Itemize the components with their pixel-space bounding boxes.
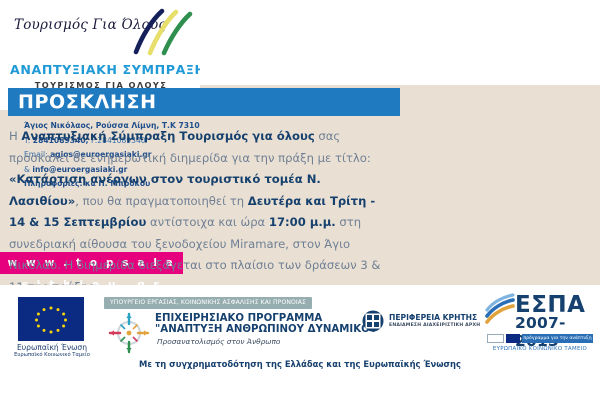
ministry-banner: ΥΠΟΥΡΓΕΙΟ ΕΡΓΑΣΙΑΣ, ΚΟΙΝΩΝΙΚΗΣ ΑΣΦΑΛΙΣΗΣ… <box>104 297 312 309</box>
invitation-body-segment-6: αντίστοιχα και ώρα <box>146 215 269 229</box>
espa-logo: ΕΣΠΑ 2007-2013 πρόγραμμα για την ανάπτυξ… <box>487 290 593 352</box>
invitation-body-segment-4: , που θα πραγματοποιηθεί τη <box>75 194 248 208</box>
brand-script-name: Τουρισμός Για Όλους <box>14 17 136 33</box>
eu-flag-icon <box>18 297 84 341</box>
region-name: ΠΕΡΙΦΕΡΕΙΑ ΚΡΗΤΗΣ <box>389 313 477 322</box>
poster-footer: Ευρωπαϊκή Ένωση Ευρωπαϊκό Κοινωνικό Ταμε… <box>0 285 600 400</box>
operational-programme-line-3: Προσανατολισμός στον Άνθρωπο <box>157 337 280 346</box>
espa-tagline-bar: πρόγραμμα για την ανάπτυξη <box>522 334 593 343</box>
espa-wave-icon <box>485 292 515 336</box>
eu-caption-primary: Ευρωπαϊκή Ένωση <box>8 343 96 352</box>
invitation-poster: Τουρισμός Για Όλους ΑΝΑΠΤΥΞΙΑΚΗ ΣΥΜΠΡΑΞΗ… <box>0 0 600 400</box>
invitation-body-segment-7: 17:00 μ.μ. <box>269 215 336 229</box>
espa-footnote: ΕΥΡΩΠΑΪΚΟ ΚΟΙΝΩΝΙΚΟ ΤΑΜΕΙΟ <box>477 346 600 352</box>
operational-programme-line-2: "ΑΝΑΠΤΥΞΗ ΑΝΘΡΩΠΙΝΟΥ ΔΥΝΑΜΙΚΟΥ" <box>155 324 382 335</box>
poster-top: Τουρισμός Για Όλους ΑΝΑΠΤΥΞΙΑΚΗ ΣΥΜΠΡΑΞΗ… <box>0 0 600 285</box>
eu-caption-secondary: Ευρωπαϊκό Κοινωνικό Ταμείο <box>8 352 96 358</box>
espa-years: 2007-2013 <box>515 314 593 350</box>
greek-flag-icon <box>487 334 504 343</box>
operational-programme-line-1: ΕΠΙΧΕΙΡΗΣΙΑΚΟ ΠΡΟΓΡΑΜΜΑ <box>155 313 322 324</box>
region-subtitle: ΕΝΔΙΑΜΕΣΗ ΔΙΑΧΕΙΡΙΣΤΙΚΗ ΑΡΧΗ <box>389 323 480 328</box>
espa-tagline: πρόγραμμα για την ανάπτυξη <box>522 334 593 343</box>
espa-eu-flag-icon <box>506 334 520 343</box>
region-crete-icon <box>362 310 384 332</box>
compass-icon <box>108 312 150 354</box>
invitation-body-segment-1: Αναπτυξιακή Σύμπραξη Τουρισμός για όλους <box>21 129 314 143</box>
swoosh-icon <box>132 6 194 56</box>
ministry-label: ΥΠΟΥΡΓΕΙΟ ΕΡΓΑΣΙΑΣ, ΚΟΙΝΩΝΙΚΗΣ ΑΣΦΑΛΙΣΗΣ… <box>104 297 312 309</box>
invitation-title: ΠΡΟΣΚΛΗΣΗ <box>8 88 400 116</box>
invitation-title-bar: ΠΡΟΣΚΛΗΣΗ <box>8 88 400 116</box>
invitation-body-segment-0: Η <box>9 129 21 143</box>
invitation-body: Η Αναπτυξιακή Σύμπραξη Τουρισμός για όλο… <box>9 126 393 298</box>
partnership-title: ΑΝΑΠΤΥΞΙΑΚΗ ΣΥΜΠΡΑΞΗ <box>10 62 192 77</box>
right-white-band <box>200 0 600 85</box>
cofunding-statement: Με τη συγχρηματοδότηση της Ελλάδας και τ… <box>0 359 600 369</box>
